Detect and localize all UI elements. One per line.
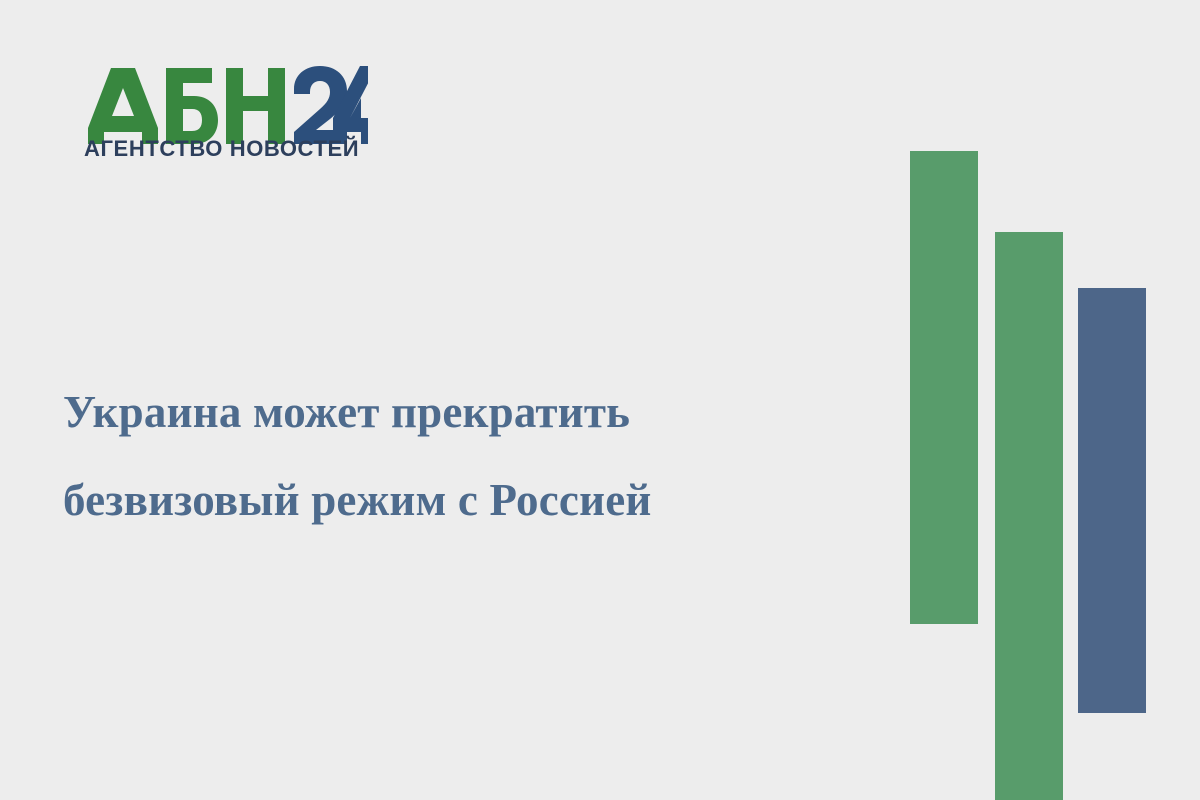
logo-letter-d [88, 68, 158, 144]
logo-tagline: АГЕНТСТВО НОВОСТЕЙ [84, 136, 359, 158]
chart-bar-2 [995, 232, 1063, 800]
news-card: АГЕНТСТВО НОВОСТЕЙ Украина может прекрат… [0, 0, 1200, 800]
logo-digit-2 [294, 66, 347, 144]
chart-bar-3 [1078, 288, 1146, 713]
abn24-logo[interactable]: АГЕНТСТВО НОВОСТЕЙ [78, 62, 368, 158]
logo-letter-b [166, 68, 218, 144]
headline: Украина может прекратить безвизовый режи… [63, 368, 863, 544]
chart-bar-1 [910, 151, 978, 624]
logo-letter-n [226, 68, 285, 144]
